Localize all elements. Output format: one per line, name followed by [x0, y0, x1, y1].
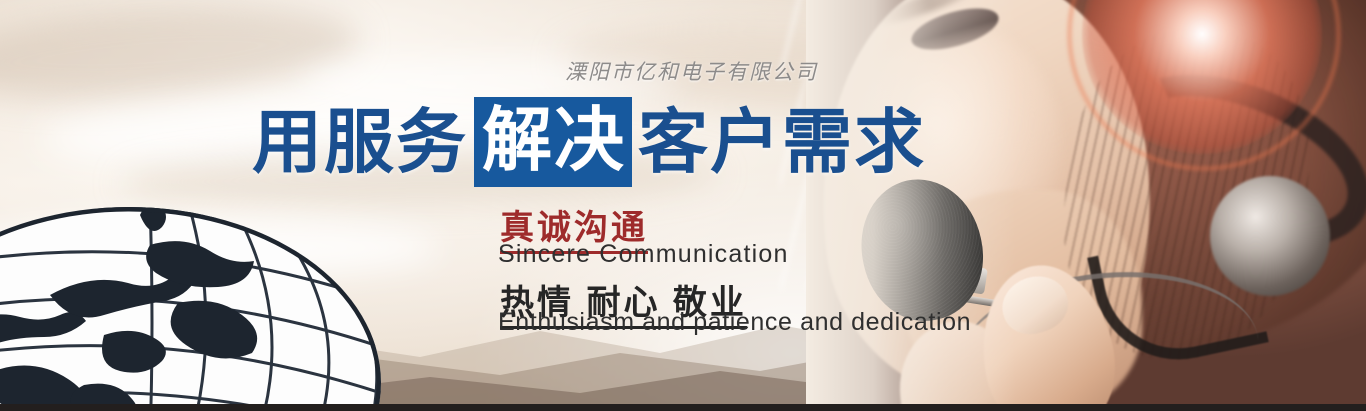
slogan-1-en: Sincere Communication — [498, 240, 789, 269]
headline: 用服务 解决 客户需求 — [252, 97, 926, 187]
bottom-bar — [0, 404, 1366, 411]
headline-part-2: 客户需求 — [638, 107, 926, 177]
headline-part-1: 用服务 — [252, 107, 468, 177]
company-name: 溧阳市亿和电子有限公司 — [565, 56, 818, 86]
hero-banner: 溧阳市亿和电子有限公司 用服务 解决 客户需求 真诚沟通 Sincere Com… — [0, 0, 1366, 411]
headline-highlight: 解决 — [474, 97, 632, 187]
slogan-2-en: Enthusiasm and patience and dedication — [498, 308, 971, 337]
banner-copy: 溧阳市亿和电子有限公司 用服务 解决 客户需求 真诚沟通 Sincere Com… — [0, 0, 900, 411]
